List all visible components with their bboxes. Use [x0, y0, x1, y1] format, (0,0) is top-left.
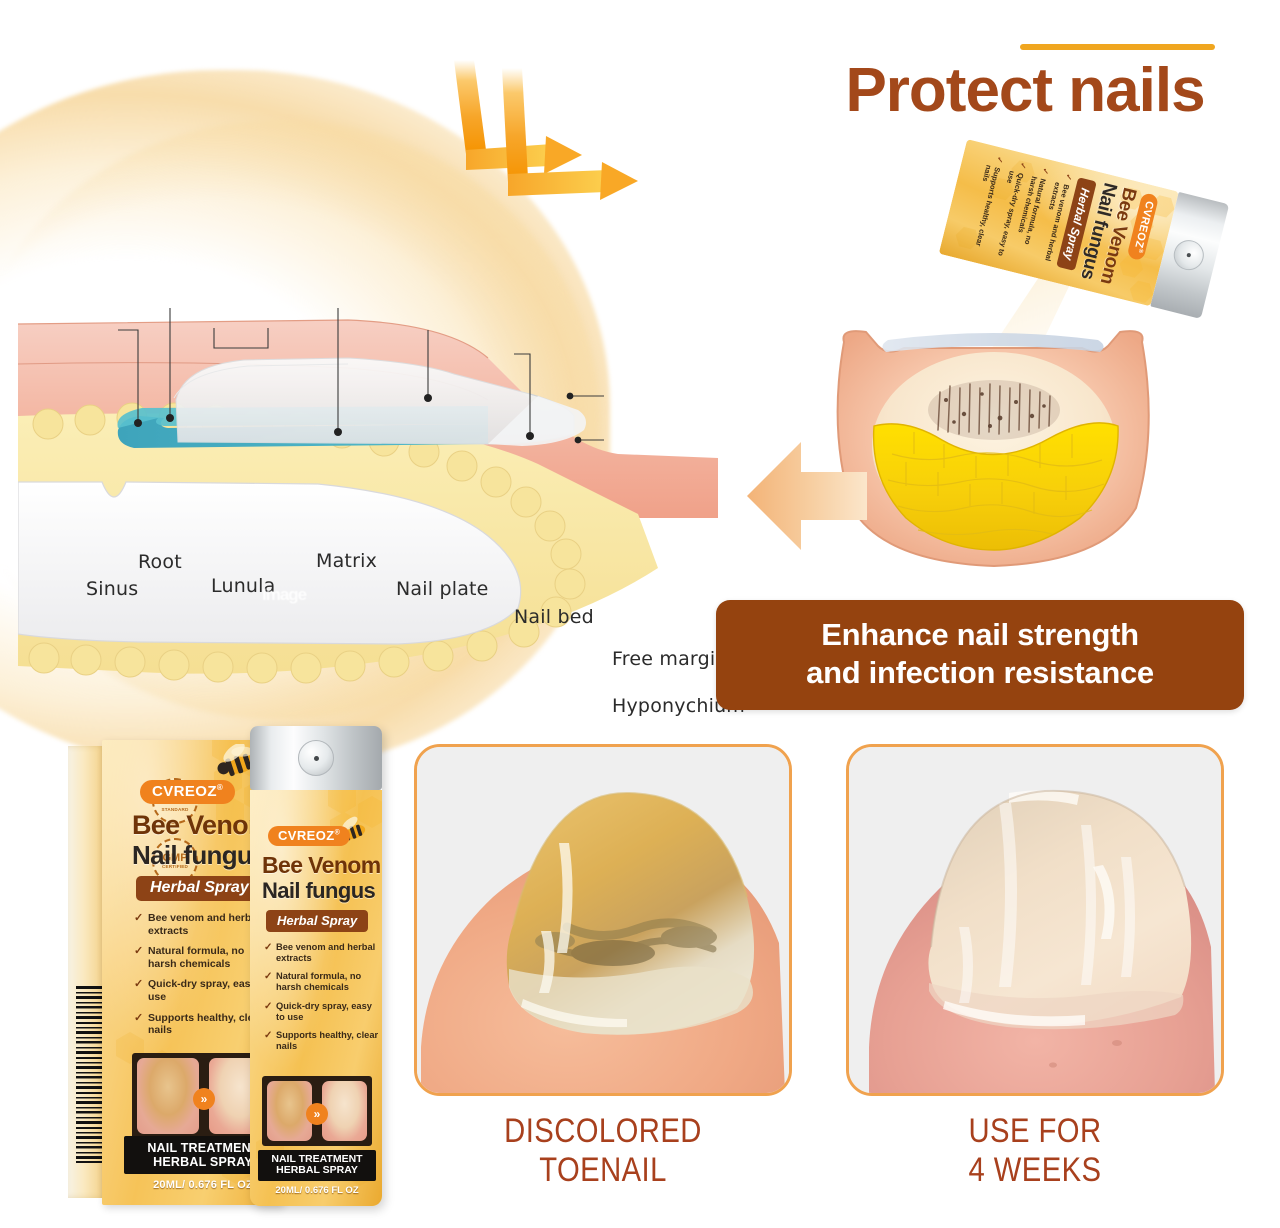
- deflection-arrows-icon: [440, 58, 650, 208]
- anatomy-label-nail-bed: Nail bed: [514, 606, 594, 628]
- product-infographic: Root Sinus Lunula Matrix Nail plate Nail…: [0, 0, 1280, 1228]
- spray-button: [298, 740, 334, 776]
- bottle-label: CVREOZ® Bee Venom Nail fungus Herbal Spr…: [939, 139, 1179, 306]
- accent-bar: [1020, 44, 1215, 50]
- bottle-volume: 20ML/ 0.676 FL OZ: [258, 1185, 376, 1196]
- infected-nail-cross-section: [818, 322, 1168, 582]
- banner-line-1: Enhance nail strength: [730, 616, 1230, 654]
- headline-block: Protect nails: [790, 44, 1260, 122]
- after-caption-line1: USE FOR: [872, 1112, 1197, 1151]
- spray-nozzle-button: [1171, 237, 1207, 273]
- product-package: APPROVED FDA STANDARD GMP CERTIFIED CVRE…: [62, 722, 422, 1212]
- before-caption-line2: TOENAIL: [440, 1151, 765, 1190]
- chevron-right-icon: »: [306, 1103, 328, 1125]
- before-caption-line1: DISCOLORED: [440, 1112, 765, 1151]
- bottle-front-cap: [250, 726, 382, 790]
- bottle-front-footer: NAIL TREATMENT HERBAL SPRAY 20ML/ 0.676 …: [258, 1150, 376, 1197]
- bottle-front-benefit-list: Bee venom and herbal extracts Natural fo…: [264, 942, 380, 1059]
- anatomy-label-matrix: Matrix: [316, 550, 377, 572]
- barcode-icon: [76, 986, 102, 1164]
- anatomy-label-root: Root: [138, 551, 182, 573]
- after-photo: [846, 744, 1224, 1096]
- bottle-front-title-line2: Nail fungus: [262, 878, 375, 904]
- list-item: Bee venom and herbal extracts: [264, 942, 380, 964]
- chevron-right-icon: »: [193, 1088, 215, 1110]
- bottle-before-after-strip: »: [262, 1076, 372, 1146]
- bottle-rotated-body: CVREOZ® Bee Venom Nail fungus Herbal Spr…: [939, 139, 1230, 319]
- after-caption-line2: 4 WEEKS: [872, 1151, 1197, 1190]
- before-caption: DISCOLORED TOENAIL: [440, 1112, 765, 1191]
- before-photo: [414, 744, 792, 1096]
- nail-anatomy-diagram: Root Sinus Lunula Matrix Nail plate Nail…: [18, 268, 758, 708]
- diagram-watermark: Image: [262, 588, 306, 602]
- box-side-panel: [68, 746, 106, 1198]
- list-item: Quick-dry spray, easy to use: [264, 1001, 380, 1023]
- banner-line-2: and infection resistance: [730, 654, 1230, 692]
- list-item: Supports healthy, clear nails: [264, 1030, 380, 1052]
- bottle-front-label: CVREOZ® Bee Venom Nail fungus Herbal Spr…: [250, 790, 382, 1206]
- benefit-banner: Enhance nail strength and infection resi…: [716, 600, 1244, 710]
- bottle-front-subtitle: Herbal Spray: [266, 910, 368, 932]
- list-item: Natural formula, no harsh chemicals: [264, 971, 380, 993]
- product-bottle-front: CVREOZ® Bee Venom Nail fungus Herbal Spr…: [250, 726, 382, 1206]
- box-brand: CVREOZ®: [140, 780, 235, 804]
- after-caption: USE FOR 4 WEEKS: [872, 1112, 1197, 1191]
- box-title-line2: Nail fungus: [132, 840, 266, 871]
- bottle-treatment-label: NAIL TREATMENT HERBAL SPRAY: [258, 1150, 376, 1182]
- anatomy-label-free-margin: Free margin: [612, 648, 728, 670]
- anatomy-label-nail-plate: Nail plate: [396, 578, 489, 600]
- bottle-front-title-line1: Bee Venom: [262, 852, 381, 879]
- page-title: Protect nails: [790, 60, 1260, 122]
- bottle-front-brand: CVREOZ®: [268, 826, 350, 846]
- left-arrow-icon: [745, 432, 870, 560]
- anatomy-label-sinus: Sinus: [86, 578, 138, 600]
- spray-bottle-rotated: CVREOZ® Bee Venom Nail fungus Herbal Spr…: [965, 130, 1265, 340]
- box-subtitle: Herbal Spray: [136, 876, 263, 901]
